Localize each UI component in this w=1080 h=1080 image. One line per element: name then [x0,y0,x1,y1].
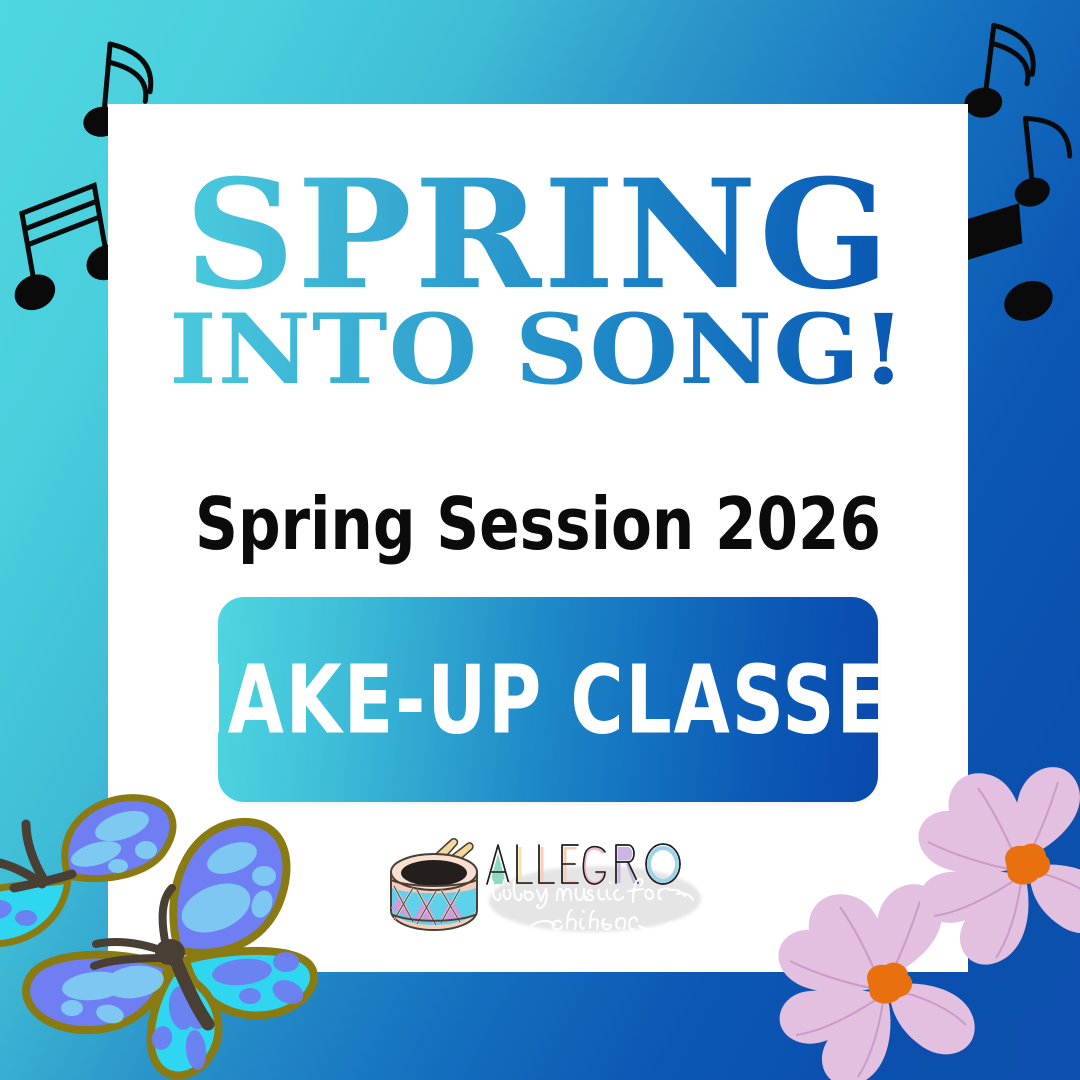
allegro-logo [108,809,968,959]
logo-tagline [487,872,699,936]
drum-icon [379,828,489,940]
page-title: SPRING INTO SONG! [108,166,968,398]
make-up-classes-button[interactable]: MAKE-UP CLASSES [218,597,878,802]
eighth-note-outline-icon [955,10,1070,139]
make-up-classes-button-label: MAKE-UP CLASSES [154,645,943,755]
headline-line-1: SPRING [99,166,976,306]
content-card: SPRING INTO SONG! Spring Session 2026 MA… [108,104,968,972]
poster-canvas: SPRING INTO SONG! Spring Session 2026 MA… [0,0,1080,1080]
session-subtitle: Spring Session 2026 [142,482,933,566]
headline-line-2: INTO SONG! [82,302,994,398]
eighth-note-outline-icon [1001,102,1080,220]
